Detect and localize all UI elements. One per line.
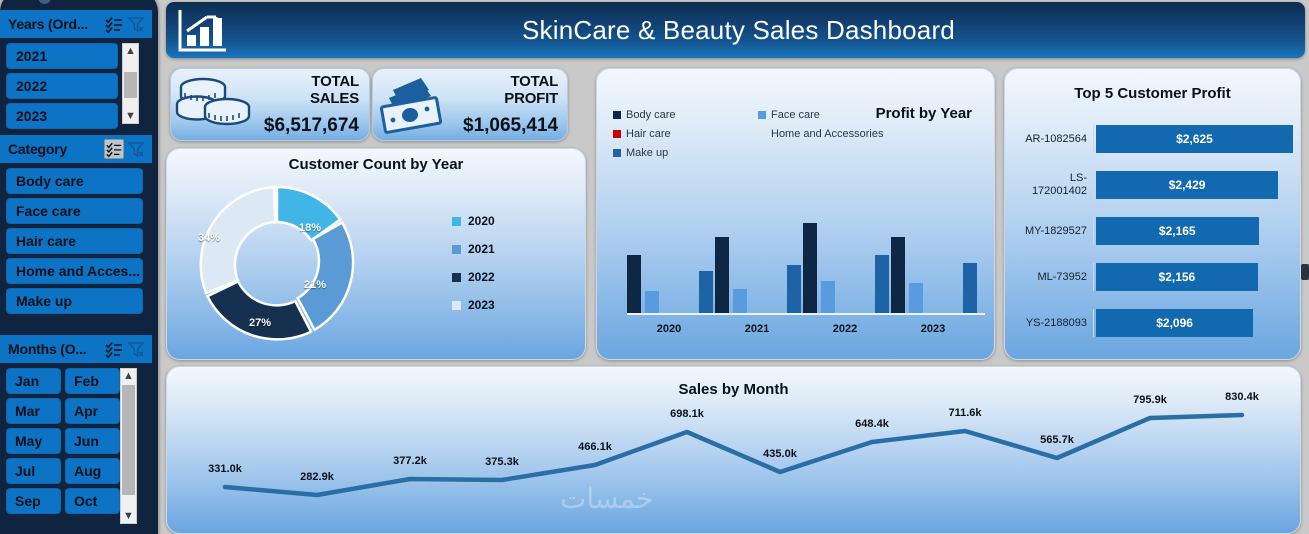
profit-by-year-legend: Body care Face care Hair care Home and A… <box>613 109 903 166</box>
legend-label: 2023 <box>468 298 495 312</box>
slicer-years[interactable]: Years (Ord... 2021 2022 2023 ▲ ▼ <box>0 10 152 126</box>
slicer-item-month[interactable]: Jan <box>6 368 61 394</box>
legend-swatch <box>613 130 621 138</box>
slicer-item-category[interactable]: Face care <box>6 198 143 224</box>
legend-item[interactable]: 2020 <box>452 214 495 228</box>
donut-slice-label: 27% <box>249 317 271 329</box>
slicer-item-category[interactable]: Body care <box>6 168 143 194</box>
customer-id-label: MY-1829527 <box>1015 225 1093 238</box>
slicer-item-month[interactable]: Mar <box>6 398 61 424</box>
legend-item[interactable]: Make up <box>613 147 758 159</box>
kpi-total-sales-value: $6,517,674 <box>261 115 359 137</box>
scroll-up-icon[interactable]: ▲ <box>125 44 136 58</box>
legend-item[interactable]: Home and Accessories <box>758 128 903 140</box>
bar-track: $2,429 <box>1093 171 1293 199</box>
table-row[interactable]: AR-1082564 $2,625 <box>1015 119 1293 159</box>
legend-swatch <box>452 301 461 310</box>
legend-label: Face care <box>771 109 820 121</box>
legend-label: 2022 <box>468 270 495 284</box>
legend-swatch <box>452 245 461 254</box>
legend-swatch <box>758 111 766 119</box>
slicer-item-year[interactable]: 2021 <box>6 43 118 69</box>
data-label: 565.7k <box>1040 434 1074 446</box>
data-label: 466.1k <box>578 441 612 453</box>
slicer-years-title: Years (Ord... <box>8 16 102 32</box>
data-label: 795.9k <box>1133 394 1167 406</box>
top5-customer-profit-card: Top 5 Customer Profit AR-1082564 $2,625 … <box>1004 68 1301 360</box>
legend-swatch <box>613 111 621 119</box>
kpi-total-sales-label: TOTAL SALES <box>261 73 359 107</box>
axis-label-year: 2020 <box>627 323 711 335</box>
bar-track: $2,096 <box>1093 309 1293 337</box>
top5-rows: AR-1082564 $2,625 LS-172001402 $2,429 MY… <box>1015 119 1293 349</box>
slicer-panel: Years (Ord... 2021 2022 2023 ▲ ▼ <box>0 0 158 534</box>
coins-stack-icon <box>175 74 261 136</box>
bar-group-2022 <box>803 209 893 313</box>
slicer-item-month[interactable]: Sep <box>6 488 61 514</box>
customer-id-label: LS-172001402 <box>1015 172 1093 198</box>
scroll-down-icon[interactable]: ▼ <box>125 109 136 123</box>
customer-id-label: AR-1082564 <box>1015 133 1093 146</box>
slicer-item-year[interactable]: 2022 <box>6 73 118 99</box>
slicer-category-title: Category <box>8 141 102 157</box>
kpi-total-profit-text: TOTAL PROFIT $1,065,414 <box>463 73 568 137</box>
legend-label: 2020 <box>468 214 495 228</box>
data-label: 698.1k <box>670 408 704 420</box>
sales-by-month-title: Sales by Month <box>167 367 1300 398</box>
legend-swatch <box>758 130 766 138</box>
scroll-thumb[interactable] <box>124 72 137 98</box>
bar-track: $2,625 <box>1093 125 1293 153</box>
sales-by-month-card: Sales by Month 331.0k 282.9k 377.2k 375.… <box>166 366 1301 534</box>
scroll-down-icon[interactable]: ▼ <box>123 509 134 523</box>
data-label: 648.4k <box>855 418 889 430</box>
table-row[interactable]: ML-73952 $2,156 <box>1015 257 1293 297</box>
slicer-years-scrollbar[interactable]: ▲ ▼ <box>122 43 139 124</box>
slicer-category[interactable]: Category Body care Face care Hair care H… <box>0 135 152 321</box>
clear-filter-icon[interactable] <box>126 14 146 34</box>
slicer-item-category[interactable]: Home and Acces... <box>6 258 143 284</box>
legend-item[interactable]: Body care <box>613 109 758 121</box>
slicer-item-month[interactable]: Jun <box>65 428 120 454</box>
top5-customer-profit-title: Top 5 Customer Profit <box>1005 69 1300 102</box>
right-edge-handle[interactable] <box>1301 264 1309 280</box>
banknotes-icon <box>377 74 463 136</box>
slicer-item-month[interactable]: May <box>6 428 61 454</box>
profit-by-year-plot: 2020 2021 2022 <box>613 209 981 339</box>
legend-label: Hair care <box>626 128 671 140</box>
profit-zero-axis <box>627 313 985 315</box>
slicer-item-month[interactable]: Jul <box>6 458 61 484</box>
slicer-item-month[interactable]: Aug <box>65 458 120 484</box>
table-row[interactable]: YS-2188093 $2,096 <box>1015 303 1293 343</box>
slicer-category-header: Category <box>0 135 152 163</box>
data-label: 830.4k <box>1225 391 1259 403</box>
sales-by-month-plot: 331.0k 282.9k 377.2k 375.3k 466.1k 698.1… <box>167 397 1301 507</box>
bar-value[interactable]: $2,429 <box>1096 171 1278 199</box>
page-title: SkinCare & Beauty Sales Dashboard <box>232 15 1245 46</box>
slicer-years-header: Years (Ord... <box>0 10 152 38</box>
panel-handle-dot <box>38 0 51 4</box>
customer-count-by-year-title: Customer Count by Year <box>167 149 585 173</box>
data-label: 282.9k <box>300 471 334 483</box>
kpi-total-profit: TOTAL PROFIT $1,065,414 <box>372 68 568 141</box>
axis-label-year: 2021 <box>715 323 799 335</box>
slicer-months-body: Jan Feb Mar Apr May Jun Jul Aug Sep Oct … <box>0 363 152 524</box>
multi-select-icon[interactable] <box>104 139 124 159</box>
data-label: 375.3k <box>485 456 519 468</box>
donut-chart: 18% 21% 27% 34% <box>187 177 367 352</box>
multi-select-icon[interactable] <box>104 14 124 34</box>
slicer-months-scrollbar[interactable]: ▲ ▼ <box>120 368 137 524</box>
scroll-thumb[interactable] <box>122 385 135 495</box>
bar-value[interactable]: $2,625 <box>1096 125 1293 153</box>
table-row[interactable]: MY-1829527 $2,165 <box>1015 211 1293 251</box>
kpi-total-profit-label: TOTAL PROFIT <box>463 73 558 107</box>
dashboard-header: SkinCare & Beauty Sales Dashboard <box>166 2 1305 58</box>
profit-by-year-card: Profit by Year Body care Face care Hair … <box>596 68 995 360</box>
bar-value[interactable]: $2,165 <box>1096 217 1259 245</box>
legend-item[interactable]: 2023 <box>452 298 495 312</box>
slicer-months-title: Months (O... <box>8 341 102 357</box>
slicer-years-body: 2021 2022 2023 ▲ ▼ <box>0 38 152 126</box>
data-label: 711.6k <box>948 407 981 419</box>
data-label: 435.0k <box>763 448 797 460</box>
legend-item[interactable]: Hair care <box>613 128 758 140</box>
bar-track: $2,156 <box>1093 263 1293 291</box>
legend-label: Body care <box>626 109 676 121</box>
scroll-up-icon[interactable]: ▲ <box>123 369 134 383</box>
donut-slice-label: 34% <box>198 232 220 244</box>
slicer-months[interactable]: Months (O... Jan Feb Mar Apr May <box>0 335 152 524</box>
table-row[interactable]: LS-172001402 $2,429 <box>1015 165 1293 205</box>
bar-value[interactable]: $2,096 <box>1096 309 1253 337</box>
bar-track: $2,165 <box>1093 217 1293 245</box>
data-label: 331.0k <box>208 463 242 475</box>
clear-filter-icon[interactable] <box>126 139 146 159</box>
customer-count-legend: 2020 2021 2022 2023 <box>452 214 495 326</box>
legend-swatch <box>452 217 461 226</box>
donut-slice-label: 18% <box>299 222 321 234</box>
kpi-total-sales-text: TOTAL SALES $6,517,674 <box>261 73 369 137</box>
legend-swatch <box>613 149 621 157</box>
customer-id-label: YS-2188093 <box>1015 317 1093 330</box>
legend-label: 2021 <box>468 242 495 256</box>
legend-label: Make up <box>626 147 668 159</box>
axis-label-year: 2022 <box>803 323 887 335</box>
bar-group-2021 <box>715 209 805 313</box>
bar-group-2023 <box>891 209 981 313</box>
slicer-item-year[interactable]: 2023 <box>6 103 118 129</box>
slicer-item-month[interactable]: Feb <box>65 368 120 394</box>
clear-filter-icon[interactable] <box>126 339 146 359</box>
slicer-item-category[interactable]: Hair care <box>6 228 143 254</box>
bar-group-2020 <box>627 209 717 313</box>
legend-item[interactable]: 2022 <box>452 270 495 284</box>
slicer-category-body: Body care Face care Hair care Home and A… <box>0 163 152 321</box>
data-label: 377.2k <box>393 455 427 467</box>
bar-value[interactable]: $2,156 <box>1096 263 1258 291</box>
bar-chart-growth-icon <box>174 6 232 54</box>
legend-label: Home and Accessories <box>771 128 884 140</box>
slicer-item-category[interactable]: Make up <box>6 288 143 314</box>
axis-label-year: 2023 <box>891 323 975 335</box>
donut-slice-label: 21% <box>304 279 326 291</box>
legend-item[interactable]: 2021 <box>452 242 495 256</box>
kpi-total-sales: TOTAL SALES $6,517,674 <box>170 68 370 141</box>
customer-id-label: ML-73952 <box>1015 271 1093 284</box>
multi-select-icon[interactable] <box>104 339 124 359</box>
slicer-months-header: Months (O... <box>0 335 152 363</box>
legend-item[interactable]: Face care <box>758 109 903 121</box>
kpi-total-profit-value: $1,065,414 <box>463 115 558 137</box>
customer-count-by-year-card: Customer Count by Year 18% 21% 27% 34% 2… <box>166 148 586 360</box>
legend-swatch <box>452 273 461 282</box>
slicer-item-month[interactable]: Apr <box>65 398 120 424</box>
slicer-item-month[interactable]: Oct <box>65 488 120 514</box>
sales-line <box>167 397 1301 507</box>
slicer-months-grid: Jan Feb Mar Apr May Jun Jul Aug Sep Oct <box>6 368 120 514</box>
